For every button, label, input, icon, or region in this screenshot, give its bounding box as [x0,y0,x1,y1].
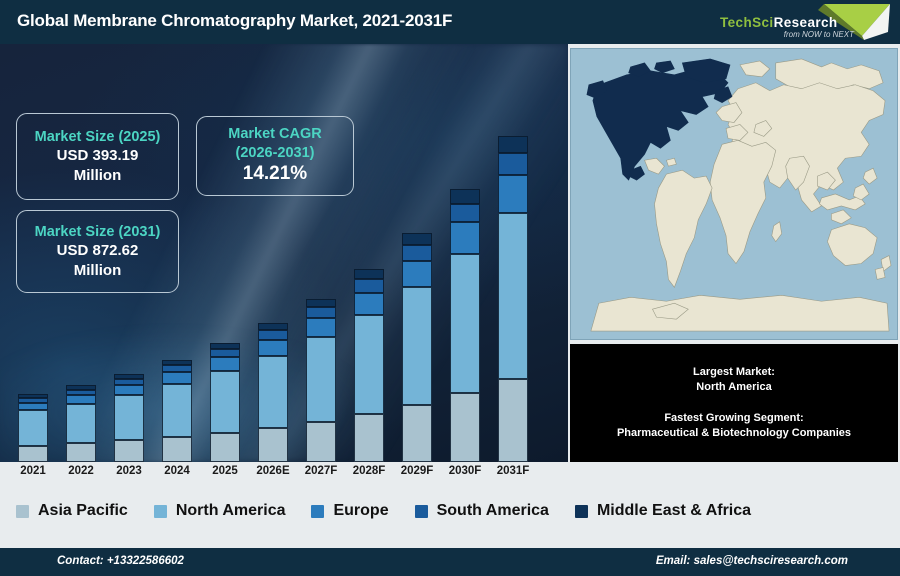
bar-segment-asia-pacific [498,379,528,462]
bar-segment-middle-east-africa [258,323,288,331]
x-axis-label-2022: 2022 [57,465,105,477]
bar-2025[interactable] [210,343,240,462]
stat-label-line1: Market CAGR [228,125,321,144]
bar-segment-south-america [354,279,384,292]
bar-segment-south-america [258,330,288,340]
legend-item-south-america[interactable]: South America [415,502,575,520]
legend-item-europe[interactable]: Europe [311,502,414,520]
stat-card-market-size-2031: Market Size (2031) USD 872.62 Million [16,210,179,293]
bar-2023[interactable] [114,374,144,462]
bar-segment-asia-pacific [402,405,432,462]
footer-contact: Contact: +13322586602 [57,555,184,567]
bar-segment-north-america [402,287,432,405]
x-axis-label-2029F: 2029F [393,465,441,477]
bar-segment-middle-east-africa [450,189,480,203]
bar-segment-europe [258,340,288,356]
stat-value-line1: USD 872.62 [57,241,139,261]
logo-word-techsci: TechSci [720,15,774,30]
bar-segment-europe [114,385,144,395]
bar-2021[interactable] [18,394,48,462]
legend-label: North America [176,502,286,520]
stat-card-market-cagr: Market CAGR (2026-2031) 14.21% [196,116,354,196]
chart-legend: Asia PacificNorth AmericaEuropeSouth Ame… [0,488,900,534]
bar-segment-asia-pacific [210,433,240,462]
bar-2031F[interactable] [498,136,528,462]
x-axis-label-2028F: 2028F [345,465,393,477]
bar-segment-south-america [402,245,432,260]
x-axis-tick-labels: 202120222023202420252026E2027F2028F2029F… [0,462,568,486]
bar-segment-north-america [210,371,240,432]
logo-wordmark: TechSciResearch [720,15,838,30]
legend-item-north-america[interactable]: North America [154,502,312,520]
bar-segment-asia-pacific [66,443,96,462]
x-axis-label-2021: 2021 [9,465,57,477]
bar-segment-europe [210,357,240,371]
bar-segment-north-america [162,384,192,437]
bar-2030F[interactable] [450,189,480,462]
stat-label: Market Size (2025) [35,128,161,147]
header-bar: Global Membrane Chromatography Market, 2… [0,0,900,44]
x-axis-label-2024: 2024 [153,465,201,477]
bar-2027F[interactable] [306,299,336,462]
legend-swatch-icon [154,505,167,518]
largest-market-value: North America [696,380,771,395]
world-map-svg [571,49,897,339]
x-axis-label-2027F: 2027F [297,465,345,477]
footer-bar: Contact: +13322586602 Email: sales@techs… [0,548,900,576]
world-map [570,48,898,340]
logo-tagline: from NOW to NEXT [784,30,854,39]
bar-segment-asia-pacific [258,428,288,462]
bar-segment-south-america [498,153,528,175]
stat-value-line2: Million [74,166,122,186]
legend-label: Asia Pacific [38,502,128,520]
legend-swatch-icon [415,505,428,518]
legend-label: Europe [333,502,388,520]
bar-2026E[interactable] [258,323,288,462]
bar-segment-south-america [210,349,240,357]
bar-segment-north-america [306,337,336,421]
bar-segment-north-america [450,254,480,394]
stat-value-line1: USD 393.19 [57,146,139,166]
page-title: Global Membrane Chromatography Market, 2… [17,11,452,31]
legend-label: Middle East & Africa [597,502,751,520]
bar-segment-asia-pacific [162,437,192,462]
bar-segment-asia-pacific [18,446,48,462]
legend-item-middle-east-africa[interactable]: Middle East & Africa [575,502,751,520]
bar-segment-north-america [18,410,48,445]
bar-segment-south-america [306,307,336,318]
bar-segment-europe [450,222,480,254]
logo-word-research: Research [774,15,838,30]
techsci-research-logo[interactable]: TechSciResearch from NOW to NEXT [712,2,892,44]
bar-segment-south-america [162,365,192,372]
fastest-segment-value: Pharmaceutical & Biotechnology Companies [617,426,851,441]
legend-swatch-icon [16,505,29,518]
legend-swatch-icon [311,505,324,518]
stat-value-line2: Million [74,261,122,281]
bar-segment-asia-pacific [114,440,144,461]
x-axis-label-2031F: 2031F [489,465,537,477]
x-axis-label-2025: 2025 [201,465,249,477]
bar-segment-asia-pacific [450,393,480,462]
stat-label: Market Size (2031) [35,223,161,242]
stat-value-cagr: 14.21% [243,162,307,187]
bar-segment-europe [66,395,96,404]
bar-2029F[interactable] [402,233,432,462]
bar-segment-middle-east-africa [306,299,336,308]
legend-item-asia-pacific[interactable]: Asia Pacific [16,502,154,520]
stat-card-market-size-2025: Market Size (2025) USD 393.19 Million [16,113,179,200]
largest-market-label: Largest Market: [693,365,775,380]
bar-segment-europe [18,403,48,411]
footer-email: Email: sales@techsciresearch.com [656,555,848,567]
fastest-segment-label: Fastest Growing Segment: [664,411,803,426]
bar-segment-asia-pacific [354,414,384,462]
bar-segment-north-america [498,213,528,379]
bar-segment-europe [498,175,528,213]
bar-segment-south-america [450,204,480,222]
legend-label: South America [437,502,549,520]
infographic-page: Global Membrane Chromatography Market, 2… [0,0,900,576]
legend-swatch-icon [575,505,588,518]
bar-segment-europe [306,318,336,337]
bar-segment-north-america [114,395,144,440]
bar-segment-europe [354,293,384,315]
bar-segment-north-america [66,404,96,443]
bar-segment-europe [162,372,192,384]
bar-segment-middle-east-africa [498,136,528,153]
x-axis-label-2023: 2023 [105,465,153,477]
bar-2022[interactable] [66,385,96,462]
key-findings-box: Largest Market: North America Fastest Gr… [570,344,898,462]
stat-label-line2: (2026-2031) [236,144,315,163]
x-axis-label-2026E: 2026E [249,465,297,477]
bar-segment-north-america [354,315,384,414]
bar-2024[interactable] [162,360,192,462]
bar-segment-asia-pacific [306,422,336,462]
bar-segment-europe [402,261,432,288]
chart-panel: Market Size (2025) USD 393.19 Million Ma… [0,44,568,462]
bar-2028F[interactable] [354,269,384,462]
x-axis-label-2030F: 2030F [441,465,489,477]
bar-segment-north-america [258,356,288,428]
bar-segment-middle-east-africa [354,269,384,279]
bar-segment-middle-east-africa [402,233,432,245]
